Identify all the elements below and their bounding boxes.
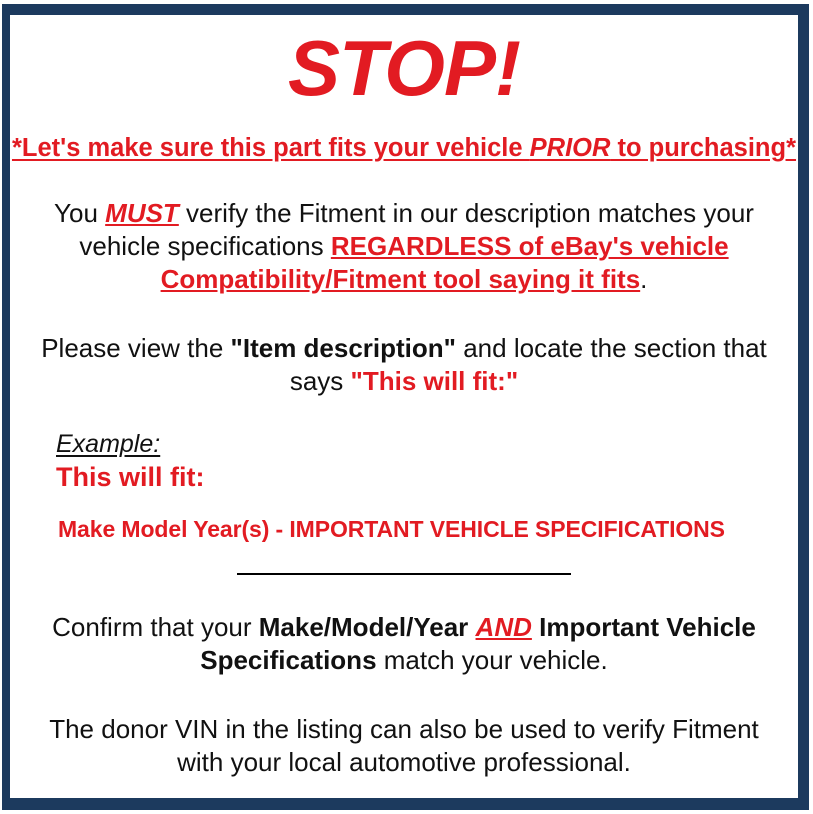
- section-divider: [237, 573, 571, 575]
- item-description-paragraph: Please view the "Item description" and l…: [39, 296, 769, 398]
- confirm-text-part2: match your vehicle.: [377, 645, 608, 675]
- and-emphasis: AND: [476, 612, 532, 642]
- thanks-message: Thank you for confirming Fitment!: [10, 779, 798, 798]
- section-divider-wrap: [10, 543, 798, 583]
- make-model-year-emphasis: Make/Model/Year: [259, 612, 469, 642]
- stop-headline: STOP!: [10, 15, 798, 111]
- example-block: Example: This will fit: Make Model Year(…: [10, 398, 798, 543]
- tagline-prior-emphasis: PRIOR: [530, 134, 611, 162]
- example-fit-header: This will fit:: [56, 459, 798, 493]
- example-spec-line: Make Model Year(s) - IMPORTANT VEHICLE S…: [56, 493, 798, 543]
- must-emphasis: MUST: [105, 198, 179, 228]
- example-label: Example:: [56, 430, 160, 459]
- tagline-tail-text: to purchasing*: [610, 134, 796, 162]
- item-description-emphasis: "Item description": [231, 333, 456, 363]
- donor-vin-paragraph: The donor VIN in the listing can also be…: [39, 677, 769, 779]
- tagline-lead-text: *Let's make sure this part fits your veh…: [12, 134, 530, 162]
- confirm-text-part1: Confirm that your: [52, 612, 259, 642]
- must-verify-paragraph: You MUST verify the Fitment in our descr…: [39, 163, 769, 296]
- itemdesc-text-part1: Please view the: [41, 333, 230, 363]
- must-text-part3: .: [640, 264, 647, 294]
- fitment-notice-body: STOP! *Let's make sure this part fits yo…: [10, 15, 798, 798]
- fitment-notice-frame: STOP! *Let's make sure this part fits yo…: [2, 4, 809, 810]
- fitment-tagline: *Let's make sure this part fits your veh…: [10, 111, 798, 163]
- must-text-part1: You: [54, 198, 105, 228]
- confirm-space-1: [468, 612, 475, 642]
- confirm-paragraph: Confirm that your Make/Model/Year AND Im…: [39, 583, 769, 677]
- this-will-fit-emphasis: "This will fit:": [351, 366, 519, 396]
